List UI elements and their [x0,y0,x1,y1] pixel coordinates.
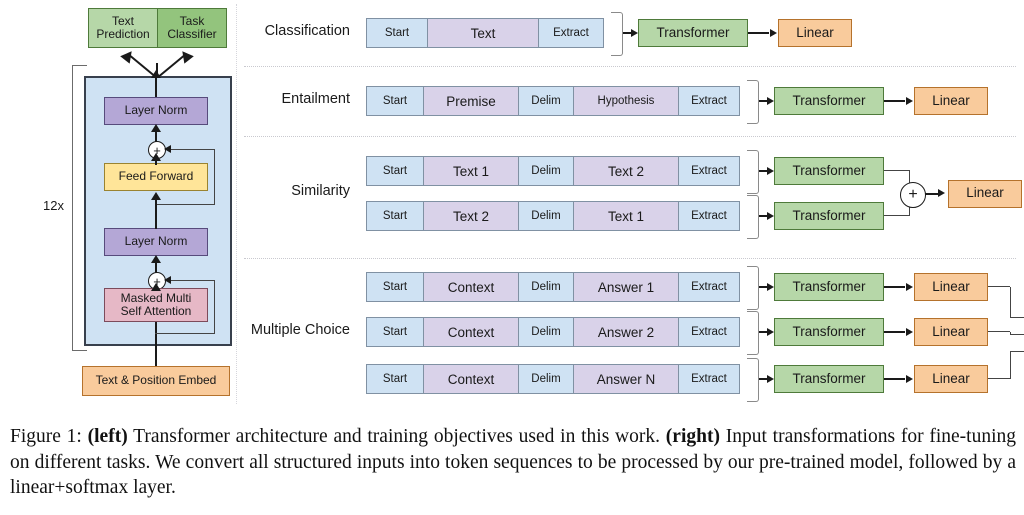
transformer-label: Transformer [792,325,865,340]
score-rail-vert [1010,287,1011,318]
linear-out-rail [988,378,1010,379]
ln-top-out-arrow [151,70,161,78]
transformer-box: Transformer [638,19,748,47]
bracket-to-transformer-arrow [767,97,774,105]
transformer-to-linear-arrow [906,97,913,105]
caption-right-tag: (right) [666,426,720,447]
transformer-box: Transformer [774,157,884,185]
score-rail-vert [1010,352,1011,379]
token-text: Text [427,18,539,48]
attn-to-plus-arrow [151,283,161,291]
token-delim: Delim [518,201,574,231]
token-answer-2: Answer 2 [573,317,679,347]
linear-label: Linear [796,26,834,41]
bracket-to-transformer-arrow [767,375,774,383]
transformer-label: Transformer [792,372,865,387]
transformer-to-linear-arrow [770,29,777,37]
transformer-to-linear-line [884,286,905,288]
head-text-prediction: Text Prediction [88,8,158,48]
transformer-box: Transformer [774,87,884,115]
block-layer-norm-bottom: Layer Norm [104,228,208,256]
sequence-bracket [611,12,623,56]
linear-label: Linear [966,186,1004,201]
task-label-entailment: Entailment [150,91,350,107]
repeat-bracket [72,65,87,351]
token-delim: Delim [518,86,574,116]
transformer-label: Transformer [792,94,865,109]
transformer-box: Transformer [774,365,884,393]
caption-left-tag: (left) [88,426,128,447]
transformer-to-linear-arrow [906,328,913,336]
similarity-sum-node: + [900,182,926,208]
head-text-prediction-line2: Prediction [96,28,149,41]
token-context: Context [423,364,519,394]
block-masked-self-attention: Masked Multi Self Attention [104,288,208,322]
linear-box: Linear [778,19,852,47]
ff-to-plus-arrow [151,153,161,161]
linear-box: Linear [948,180,1022,208]
linear-label: Linear [932,280,970,295]
repeat-label: 12x [20,198,64,213]
similarity-top-rail [884,170,910,171]
token-start: Start [366,156,424,186]
token-text-2: Text 2 [573,156,679,186]
attn-residual-hline-top [166,280,215,281]
task-separator [244,66,1016,67]
linear-box: Linear [914,365,988,393]
token-delim: Delim [518,317,574,347]
block-text-position-embed-label: Text & Position Embed [96,374,217,387]
bracket-to-transformer-arrow [767,212,774,220]
panel-divider [236,4,237,404]
bracket-to-transformer-arrow [767,328,774,336]
task-separator [244,136,1016,137]
ff-residual-hline-top [166,149,215,150]
token-premise: Premise [423,86,519,116]
block-feed-forward-label: Feed Forward [119,170,194,183]
token-start: Start [366,364,424,394]
token-text-1: Text 1 [573,201,679,231]
bracket-to-transformer-arrow [767,283,774,291]
lnbot-to-ff-line [155,198,157,229]
linear-box: Linear [914,87,988,115]
task-label-similarity: Similarity [150,183,350,199]
bracket-to-transformer-arrow [767,167,774,175]
transformer-to-linear-arrow [906,283,913,291]
figure-root: Text Prediction Task Classifier 12x Laye… [0,0,1024,515]
transformer-label: Transformer [792,164,865,179]
token-extract: Extract [538,18,604,48]
linear-box: Linear [914,273,988,301]
transformer-to-linear-arrow [906,375,913,383]
token-start: Start [366,18,428,48]
token-extract: Extract [678,156,740,186]
linear-out-rail [988,286,1010,287]
sequence-bracket [747,80,759,124]
sum-to-linear-arrow [938,189,945,197]
token-text-2: Text 2 [423,201,519,231]
token-delim: Delim [518,272,574,302]
token-extract: Extract [678,272,740,302]
bracket-to-transformer-arrow [631,29,638,37]
token-text-1: Text 1 [423,156,519,186]
ff-residual-arrow [164,145,171,153]
attn-residual-arrow [164,276,171,284]
sequence-bracket [747,358,759,402]
similarity-sum-symbol: + [908,187,917,203]
transformer-label: Transformer [792,280,865,295]
transformer-box: Transformer [774,273,884,301]
caption-prefix: Figure 1: [10,426,82,447]
figure-caption: Figure 1: (left) Transformer architectur… [10,424,1016,501]
block-text-position-embed: Text & Position Embed [82,366,230,396]
token-start: Start [366,201,424,231]
plus-top-to-ln-arrow [151,124,161,132]
ff-residual-hline-bottom [155,204,215,205]
token-hypothesis: Hypothesis [573,86,679,116]
block-layer-norm-bottom-label: Layer Norm [125,235,188,248]
score-rail-in [1010,317,1024,318]
token-extract: Extract [678,317,740,347]
linear-label: Linear [932,94,970,109]
transformer-box: Transformer [774,318,884,346]
task-label-classification: Classification [150,23,350,39]
token-context: Context [423,317,519,347]
sequence-bracket [747,150,759,194]
score-rail-in [1010,334,1024,335]
token-answer-1: Answer 1 [573,272,679,302]
transformer-label: Transformer [792,209,865,224]
token-delim: Delim [518,156,574,186]
score-rail-in [1010,351,1024,352]
transformer-label: Transformer [656,26,729,41]
linear-label: Linear [932,372,970,387]
block-attention-line2: Self Attention [121,305,192,318]
linear-out-rail [988,331,1010,332]
task-separator [244,258,1016,259]
token-start: Start [366,317,424,347]
transformer-to-linear-line [748,32,769,34]
similarity-bottom-rail [884,215,910,216]
sequence-bracket [747,195,759,239]
caption-part1: Transformer architecture and training ob… [128,426,666,447]
sequence-bracket [747,266,759,310]
token-start: Start [366,272,424,302]
token-answer-n: Answer N [573,364,679,394]
token-context: Context [423,272,519,302]
transformer-box: Transformer [774,202,884,230]
transformer-to-linear-line [884,331,905,333]
sum-to-linear-line [925,193,939,195]
linear-box: Linear [914,318,988,346]
task-label-multiple-choice: Multiple Choice [150,322,350,338]
transformer-to-linear-line [884,378,905,380]
token-start: Start [366,86,424,116]
sequence-bracket [747,311,759,355]
token-delim: Delim [518,364,574,394]
token-extract: Extract [678,364,740,394]
transformer-to-linear-line [884,100,905,102]
token-extract: Extract [678,201,740,231]
linear-label: Linear [932,325,970,340]
token-extract: Extract [678,86,740,116]
plus-bot-to-ln-arrow [151,255,161,263]
